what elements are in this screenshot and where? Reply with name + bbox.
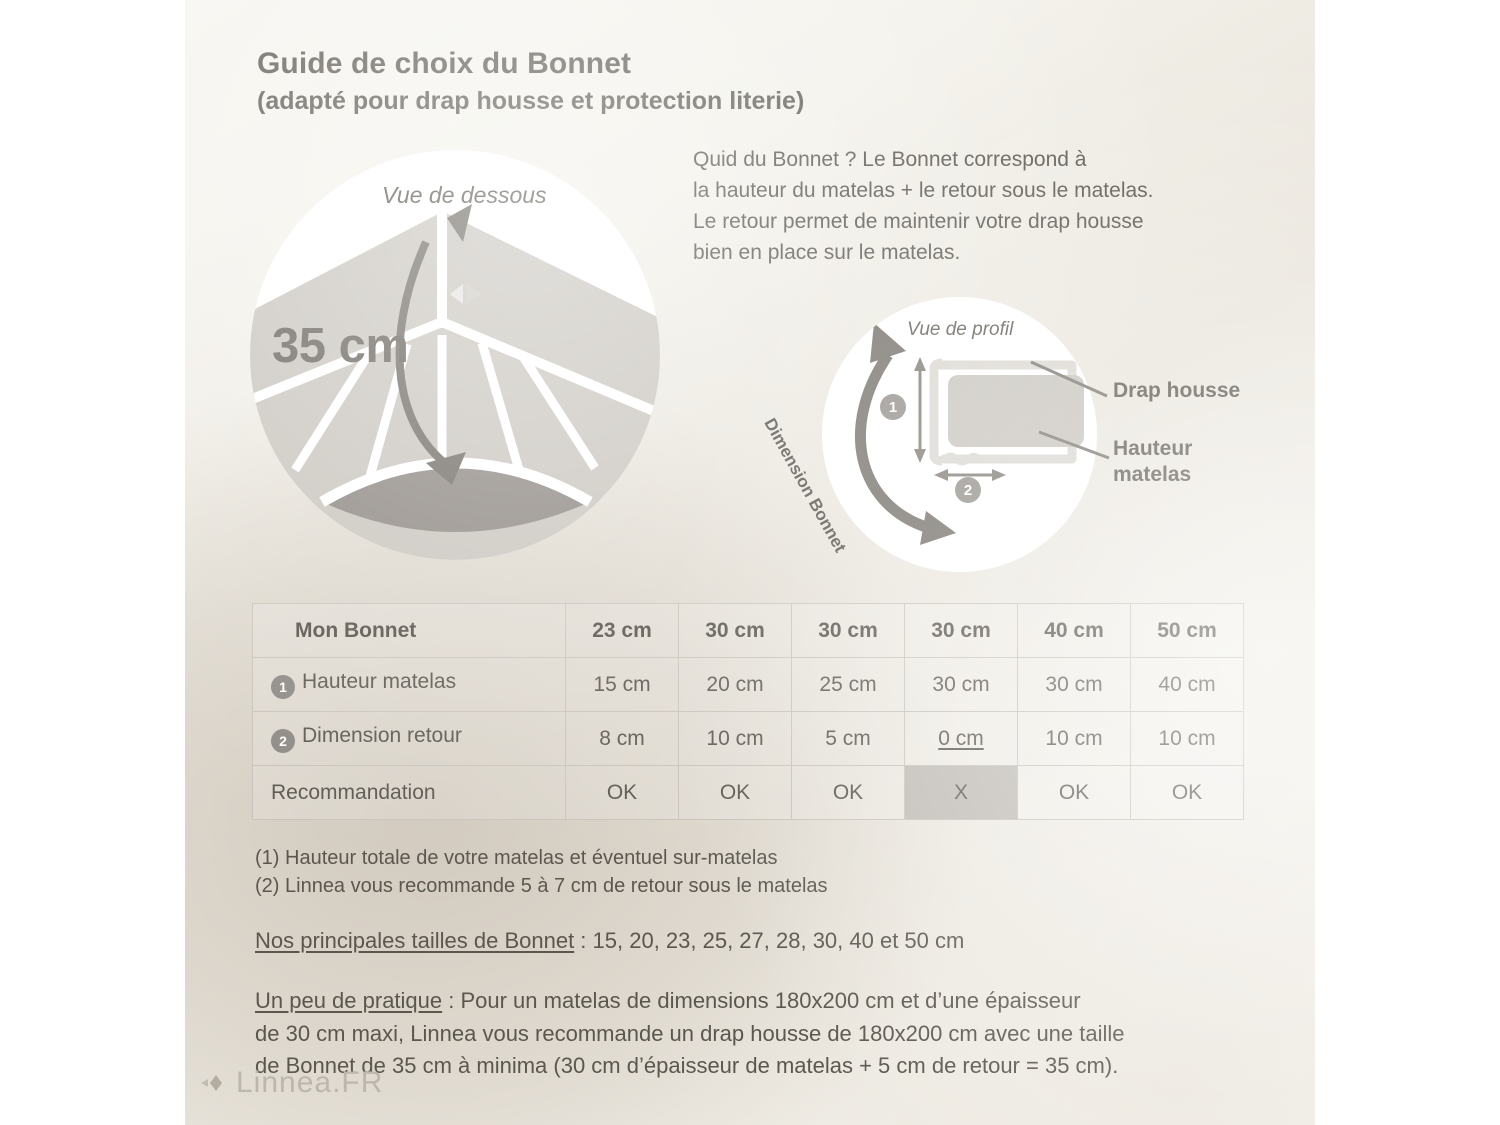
intro-line-1: Quid du Bonnet ? Le Bonnet correspond à [693,145,1273,176]
badge-mattress-height: 1 [880,394,906,420]
table-cell: 10 cm [1131,712,1244,766]
page-title: Guide de choix du Bonnet (adapté pour dr… [257,44,1017,119]
intro-line-2: la hauteur du matelas + le retour sous l… [693,176,1273,207]
table-cell: 15 cm [566,658,679,712]
table-cell: 30 cm [905,604,1018,658]
table-cell: 20 cm [679,658,792,712]
practice-block: Un peu de pratique : Pour un matelas de … [255,985,1255,1083]
practice-line-3: de Bonnet de 35 cm à minima (30 cm d’épa… [255,1050,1255,1083]
table-cell-underlined: 0 cm [938,727,984,750]
title-line-2: (adapté pour drap housse et protection l… [257,85,1017,119]
bonnet-measure-label: 35 cm [272,318,408,374]
table-row: 1Hauteur matelas 15 cm 20 cm 25 cm 30 cm… [253,658,1244,712]
table-row-label-text: Hauteur matelas [302,670,456,693]
callout-drap-housse: Drap housse [1113,378,1240,404]
profile-view-label: Vue de profil [907,319,1013,341]
badge-return-dimension: 2 [955,477,981,503]
diamond-arrow-icon [199,1070,225,1096]
bonnet-table: Mon Bonnet 23 cm 30 cm 30 cm 30 cm 40 cm… [252,603,1244,820]
table-cell: 30 cm [1018,658,1131,712]
table-row-label: Recommandation [253,766,566,820]
table-cell: 5 cm [792,712,905,766]
brand-logo[interactable]: Linnea.FR [199,1066,383,1100]
footnote-1: (1) Hauteur totale de votre matelas et é… [255,845,1255,873]
available-sizes-label: Nos principales tailles de Bonnet [255,928,574,953]
table-cell: 40 cm [1131,658,1244,712]
practice-line-1: Un peu de pratique : Pour un matelas de … [255,985,1255,1018]
table-cell-highlight: X [905,766,1018,820]
row-badge-2: 2 [271,729,295,753]
brand-logo-text: Linnea.FR [236,1066,383,1100]
intro-paragraph: Quid du Bonnet ? Le Bonnet correspond à … [693,145,1273,268]
bottom-view-diagram: Vue de dessous 35 cm [250,150,660,560]
table-cell: 10 cm [679,712,792,766]
available-sizes-line: Nos principales tailles de Bonnet : 15, … [255,926,1255,957]
title-line-1: Guide de choix du Bonnet [257,44,1017,83]
table-row-label: Mon Bonnet [253,604,566,658]
table-cell: OK [566,766,679,820]
bottom-view-label: Vue de dessous [382,182,547,209]
callout-hauteur-matelas: Hauteur matelas [1113,436,1192,489]
row-badge-1: 1 [271,675,295,699]
table-cell: 23 cm [566,604,679,658]
callout-hauteur-line-1: Hauteur [1113,436,1192,462]
table-row: Recommandation OK OK OK X OK OK [253,766,1244,820]
table-cell: 50 cm [1131,604,1244,658]
available-sizes-value: : 15, 20, 23, 25, 27, 28, 30, 40 et 50 c… [574,928,964,953]
table-cell: 30 cm [792,604,905,658]
practice-text-1: : Pour un matelas de dimensions 180x200 … [442,988,1080,1013]
table-row-label-text: Dimension retour [302,724,462,747]
footnote-2: (2) Linnea vous recommande 5 à 7 cm de r… [255,873,1255,901]
table-cell: OK [679,766,792,820]
table-cell: 30 cm [905,658,1018,712]
table-row-label: 2Dimension retour [253,712,566,766]
intro-line-3: Le retour permet de maintenir votre drap… [693,207,1273,238]
poster-root: Guide de choix du Bonnet (adapté pour dr… [0,0,1500,1125]
practice-line-2: de 30 cm maxi, Linnea vous recommande un… [255,1018,1255,1051]
table-row: 2Dimension retour 8 cm 10 cm 5 cm 0 cm 1… [253,712,1244,766]
intro-line-4: bien en place sur le matelas. [693,238,1273,269]
table-cell: OK [792,766,905,820]
table-cell: 25 cm [792,658,905,712]
table-row: Mon Bonnet 23 cm 30 cm 30 cm 30 cm 40 cm… [253,604,1244,658]
table-cell: 30 cm [679,604,792,658]
notes-block: (1) Hauteur totale de votre matelas et é… [255,845,1255,1083]
content-panel: Guide de choix du Bonnet (adapté pour dr… [185,0,1315,1125]
table-cell: 40 cm [1018,604,1131,658]
table-cell: 0 cm [905,712,1018,766]
callout-hauteur-line-2: matelas [1113,462,1192,488]
table-cell: 8 cm [566,712,679,766]
table-cell: 10 cm [1018,712,1131,766]
table-cell: OK [1018,766,1131,820]
table-cell: OK [1131,766,1244,820]
practice-label: Un peu de pratique [255,988,442,1013]
table-row-label: 1Hauteur matelas [253,658,566,712]
